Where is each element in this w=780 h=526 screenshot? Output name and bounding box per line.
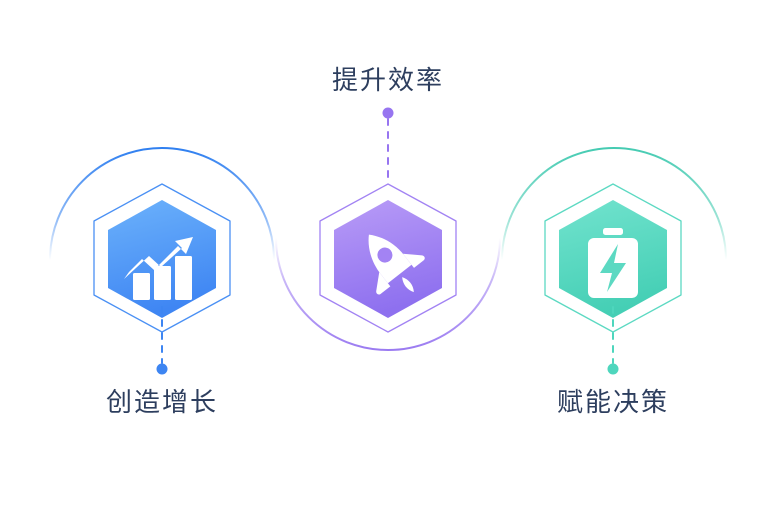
node-label-create-growth: 创造增长 [62, 382, 262, 419]
connector-end-dot [608, 364, 619, 375]
infographic-canvas: 创造增长 提升效率 [0, 0, 780, 526]
node-empower-decisions[interactable]: 赋能决策 [513, 0, 713, 330]
node-create-growth[interactable]: 创造增长 [62, 0, 262, 330]
connector-create-growth [62, 305, 262, 385]
connector-empower-decisions [513, 305, 713, 385]
hexagon-badge-improve-efficiency[interactable] [288, 178, 488, 338]
hexagon-inner-fill [108, 200, 216, 318]
node-label-improve-efficiency: 提升效率 [288, 60, 488, 97]
nodes-layer: 创造增长 提升效率 [0, 0, 780, 526]
connector-end-dot [383, 108, 394, 119]
node-label-empower-decisions: 赋能决策 [513, 382, 713, 419]
node-improve-efficiency[interactable]: 提升效率 [288, 0, 488, 330]
battery-charge-icon [588, 228, 638, 298]
connector-end-dot [157, 364, 168, 375]
connector-improve-efficiency [288, 105, 488, 185]
